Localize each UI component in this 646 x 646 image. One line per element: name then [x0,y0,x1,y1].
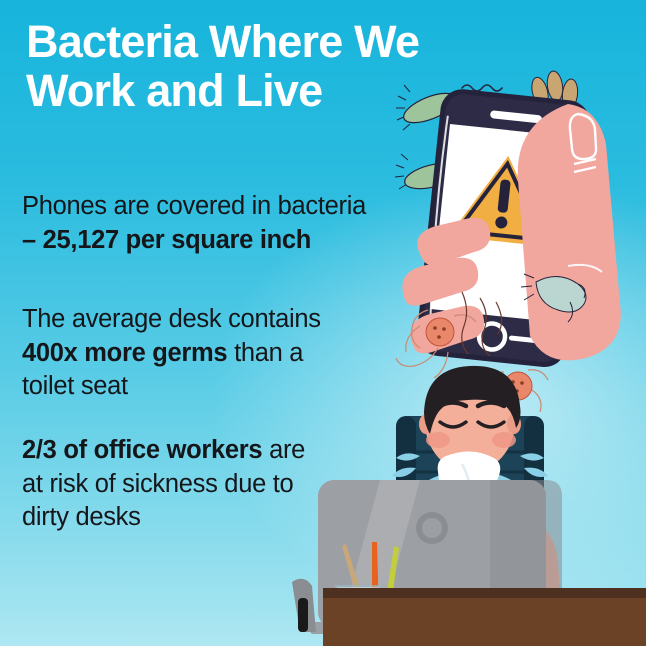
fact-line-rest: are [262,436,305,464]
fact-value: 400x more germs [22,339,227,367]
title-line-1: Bacteria Where We [26,18,546,67]
fact-line: 2/3 of office workers are [22,434,402,468]
fact-value: – 25,127 per square inch [22,226,311,254]
desk-foreground [0,588,646,646]
cheek-blush [492,432,516,448]
fact-line: – 25,127 per square inch [22,224,452,258]
fact-phones-bacteria: Phones are covered in bacteria – 25,127 … [22,190,452,257]
fact-office-workers-risk: 2/3 of office workers are at risk of sic… [22,434,402,535]
fact-desk-germs: The average desk contains 400x more germ… [22,303,422,404]
fact-line: dirty desks [22,501,402,535]
fact-line: The average desk contains [22,303,422,337]
title-line-2: Work and Live [26,67,546,116]
page-title: Bacteria Where We Work and Live [26,18,546,115]
hand-thumb [518,104,621,360]
fact-line: 400x more germs than a [22,337,422,371]
fact-value: 2/3 of office workers [22,436,262,464]
fact-line: toilet seat [22,370,422,404]
fact-line-rest: than a [227,339,303,367]
infographic-poster: Bacteria Where We Work and Live Phones a… [0,0,646,646]
fact-line: at risk of sickness due to [22,468,402,502]
fact-line: Phones are covered in bacteria [22,190,452,224]
cheek-blush [426,432,450,448]
